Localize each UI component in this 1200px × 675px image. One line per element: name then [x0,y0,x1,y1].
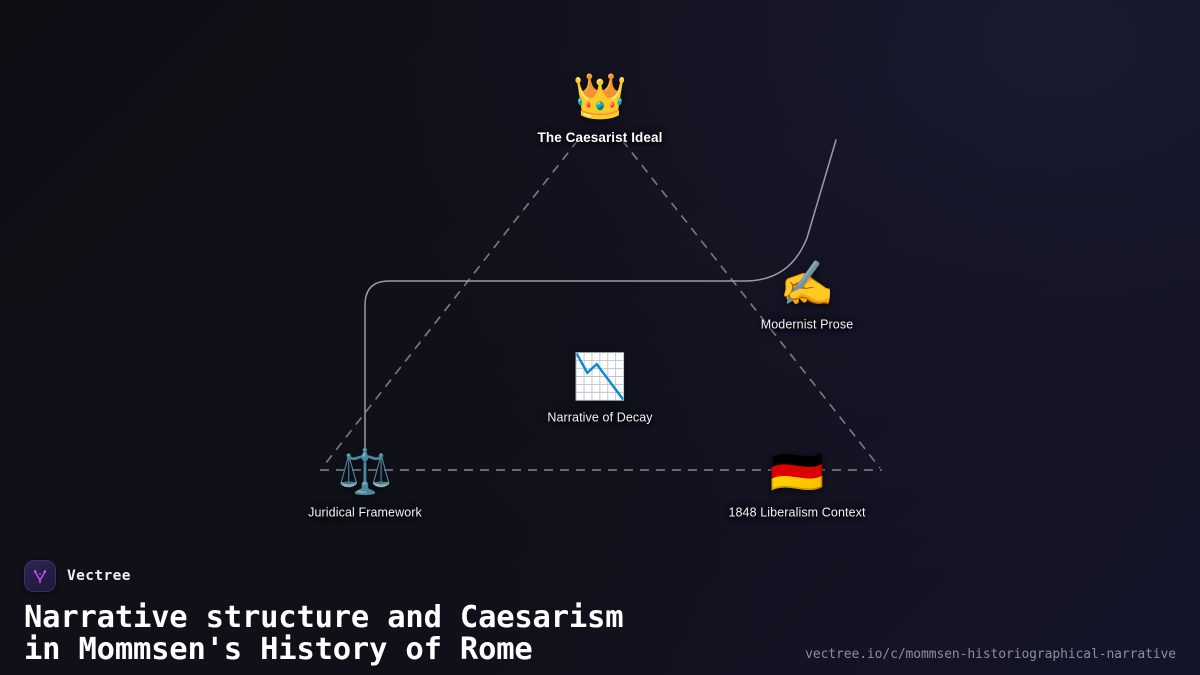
germany-flag-icon: 🇩🇪 [770,451,825,495]
writing-hand-icon: ✍️ [780,263,835,307]
chart-decreasing-icon: 📉 [573,356,628,400]
vectree-canvas: 👑 The Caesarist Ideal ✍️ Modernist Prose… [0,0,1200,675]
graph-node-label: The Caesarist Ideal [538,130,663,145]
graph-node-narrative-of-decay[interactable]: 📉 Narrative of Decay [547,356,652,425]
brand-row: Vectree [24,559,1176,593]
graph-node-caesarist-ideal[interactable]: 👑 The Caesarist Ideal [538,75,663,145]
brand-name: Vectree [67,568,131,584]
crown-icon: 👑 [573,75,628,119]
balance-scale-icon: ⚖️ [338,451,393,495]
title-row: Narrative structure and Caesarism in Mom… [24,602,1176,667]
graph-node-juridical-framework[interactable]: ⚖️ Juridical Framework [308,451,422,520]
graph-node-liberalism-1848[interactable]: 🇩🇪 1848 Liberalism Context [728,451,865,520]
graph-node-label: Juridical Framework [308,506,422,520]
vectree-tree-logo-icon [24,560,56,592]
graph-node-modernist-prose[interactable]: ✍️ Modernist Prose [761,263,854,332]
graph-node-label: Modernist Prose [761,318,854,332]
graph-node-label: 1848 Liberalism Context [728,506,865,520]
page-url: vectree.io/c/mommsen-historiographical-n… [805,647,1176,667]
footer-bar: Vectree Narrative structure and Caesaris… [0,545,1200,675]
page-title: Narrative structure and Caesarism in Mom… [24,602,623,667]
edge-ideal-juridical [322,140,578,468]
graph-node-label: Narrative of Decay [547,411,652,425]
